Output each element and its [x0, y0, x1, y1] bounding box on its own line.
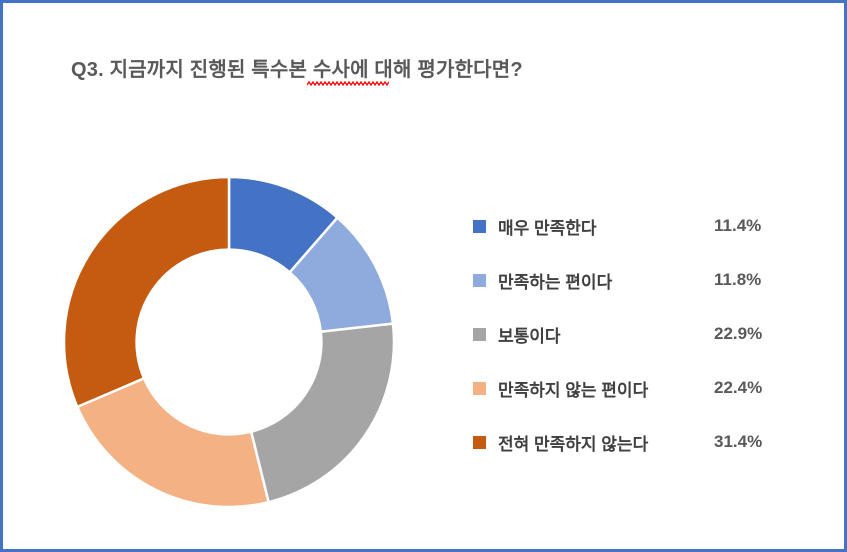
legend-label: 전혀 만족하지 않는다 — [498, 430, 714, 455]
legend-item[interactable]: 매우 만족한다11.4% — [473, 199, 803, 253]
chart-page: Q3. 지금까지 진행된 특수본 수사에 대해 평가한다면? 매우 만족한다11… — [0, 0, 847, 552]
legend-label: 만족하지 않는 편이다 — [498, 376, 714, 401]
donut-slice[interactable] — [77, 378, 268, 507]
chart-legend: 매우 만족한다11.4%만족하는 편이다11.8%보통이다22.9%만족하지 않… — [473, 199, 803, 469]
legend-value: 11.8% — [714, 270, 761, 290]
legend-label: 매우 만족한다 — [498, 214, 714, 239]
legend-swatch-icon — [473, 436, 486, 449]
donut-slice[interactable] — [251, 324, 394, 503]
legend-value: 22.9% — [714, 324, 762, 344]
legend-swatch-icon — [473, 220, 486, 233]
donut-chart-svg — [56, 169, 402, 515]
donut-chart — [56, 169, 402, 515]
legend-label: 보통이다 — [498, 322, 714, 347]
legend-value: 11.4% — [714, 216, 761, 236]
page-title: Q3. 지금까지 진행된 특수본 수사에 대해 평가한다면? — [71, 53, 523, 82]
legend-swatch-icon — [473, 328, 486, 341]
legend-value: 22.4% — [714, 378, 762, 398]
legend-value: 31.4% — [714, 432, 762, 452]
legend-item[interactable]: 전혀 만족하지 않는다31.4% — [473, 415, 803, 469]
donut-slice[interactable] — [64, 177, 229, 407]
legend-label: 만족하는 편이다 — [498, 268, 714, 293]
legend-item[interactable]: 만족하는 편이다11.8% — [473, 253, 803, 307]
legend-swatch-icon — [473, 274, 486, 287]
legend-swatch-icon — [473, 382, 486, 395]
legend-item[interactable]: 만족하지 않는 편이다22.4% — [473, 361, 803, 415]
legend-item[interactable]: 보통이다22.9% — [473, 307, 803, 361]
